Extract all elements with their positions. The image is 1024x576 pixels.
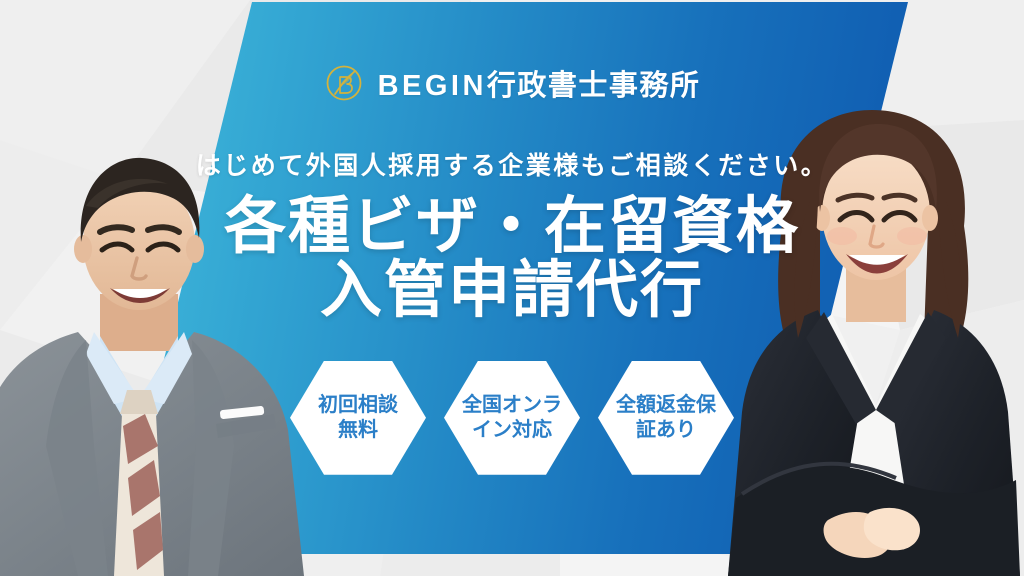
hero-subtitle: はじめて外国人採用する企業様もご相談ください。 xyxy=(196,146,829,182)
badge-label: 全国オンラ イン対応 xyxy=(462,393,562,442)
headline-line-1: 各種ビザ・在留資格 xyxy=(224,195,800,259)
brand-name-jp: 行政書士事務所 xyxy=(487,70,701,102)
badge-label: 初回相談 無料 xyxy=(318,393,398,442)
hero-banner: BEGIN行政書士事務所 はじめて外国人採用する企業様もご相談ください。 各種ビ… xyxy=(0,0,1024,576)
brand-logo[interactable]: BEGIN行政書士事務所 xyxy=(324,62,701,104)
feature-badge-nationwide-online[interactable]: 全国オンラ イン対応 xyxy=(444,361,580,475)
brand-logo-text: BEGIN行政書士事務所 xyxy=(378,62,701,104)
headline-line-2: 入管申請代行 xyxy=(224,259,800,323)
feature-badge-full-refund[interactable]: 全額返金保 証あり xyxy=(598,361,734,475)
badge-label: 全額返金保 証あり xyxy=(616,393,716,442)
brand-name-en: BEGIN xyxy=(378,70,487,102)
feature-badge-free-consultation[interactable]: 初回相談 無料 xyxy=(290,361,426,475)
feature-badge-list: 初回相談 無料 全国オンラ イン対応 全額返金保 証あり xyxy=(290,361,734,475)
page-title: 各種ビザ・在留資格 入管申請代行 xyxy=(224,195,800,323)
begin-quill-circle-logo-icon xyxy=(324,63,364,103)
